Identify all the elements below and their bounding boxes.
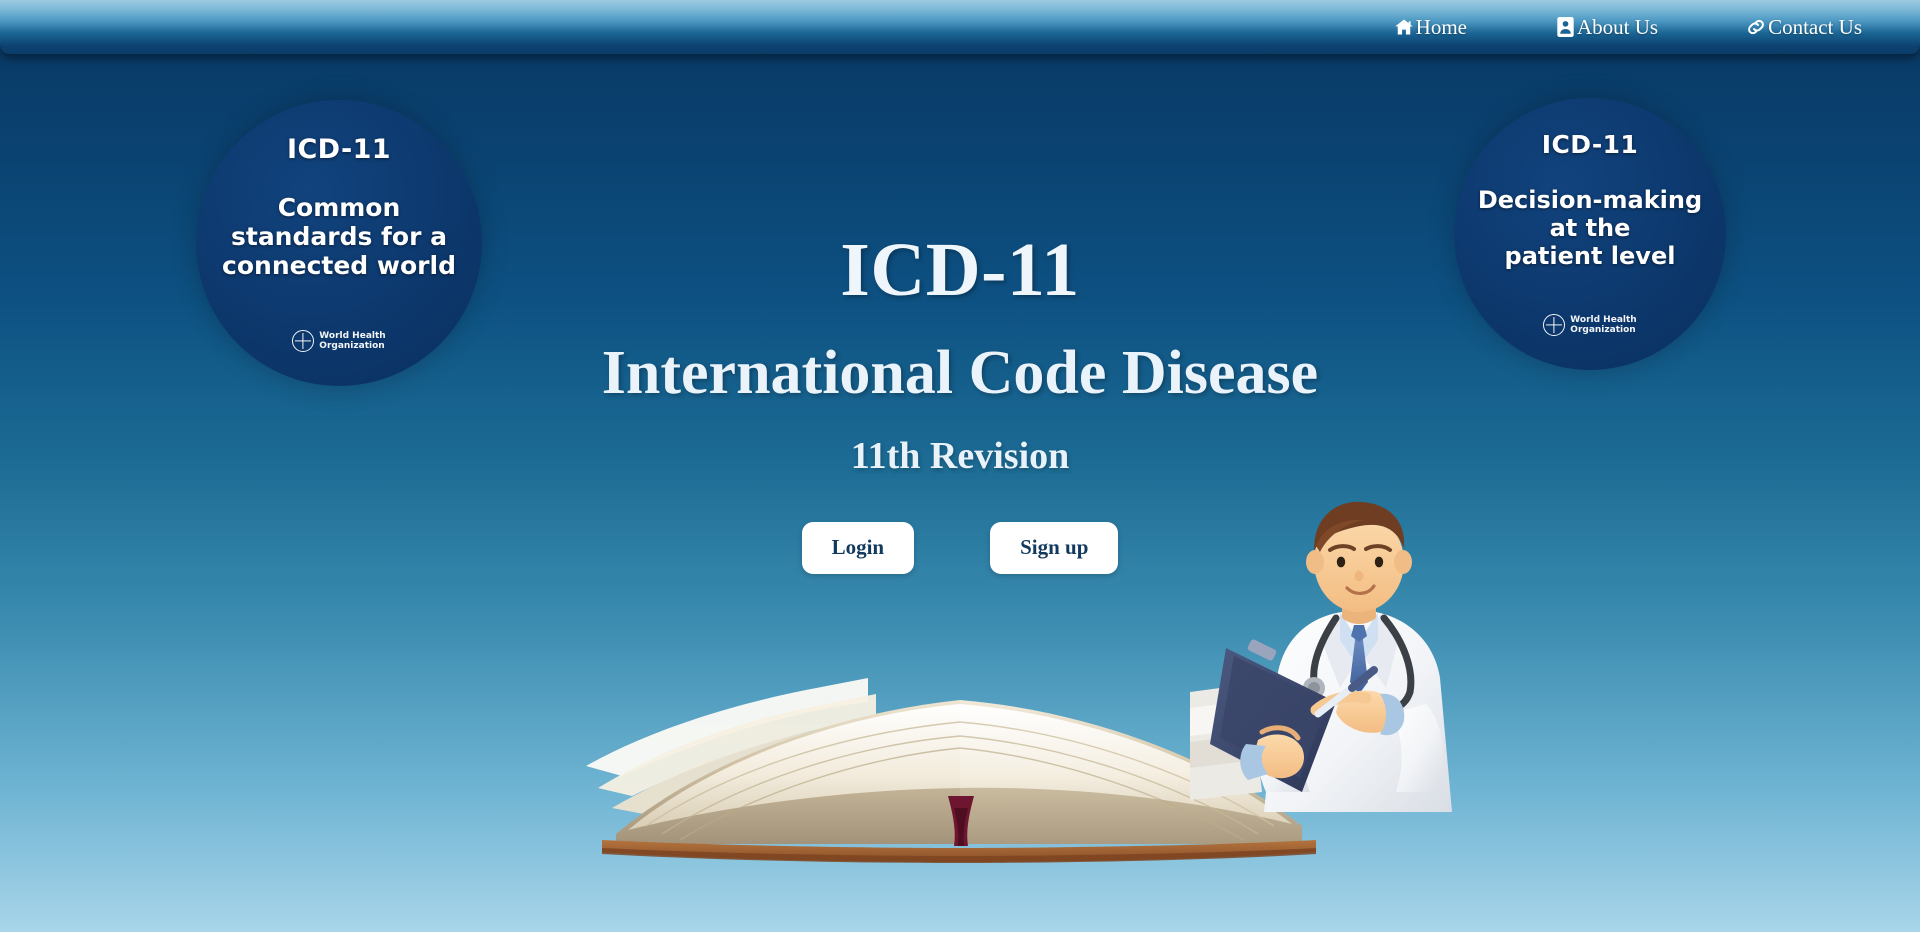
icd-badge-left-code: ICD-11 [287,134,391,165]
nav-item-about-us[interactable]: About Us [1555,17,1658,38]
doctor-with-clipboard-illustration [1190,492,1500,827]
icd-badge-right-tagline: Decision-making at the patient level [1458,187,1722,270]
nav-links-group: Home About Us Contact Us [1394,17,1862,38]
link-icon [1746,17,1766,37]
page-title: ICD-11 [460,232,1460,308]
nav-item-home[interactable]: Home [1394,17,1467,38]
id-card-icon [1555,17,1575,37]
who-logo-left-label: World Health Organization [319,331,385,352]
icd-badge-right-code: ICD-11 [1542,130,1638,159]
who-logo-left: World Health Organization [292,330,385,352]
page-subtitle: International Code Disease [460,342,1460,404]
icd-badge-left-tagline: Common standards for a connected world [202,193,476,280]
icd-badge-right: ICD-11 Decision-making at the patient le… [1454,98,1726,370]
nav-item-about-us-label: About Us [1577,17,1658,38]
signup-button[interactable]: Sign up [990,522,1118,574]
page-revision-label: 11th Revision [460,437,1460,475]
who-logo-right: World Health Organization [1543,314,1636,336]
who-logo-right-label: World Health Organization [1570,315,1636,336]
nav-item-contact-us-label: Contact Us [1768,17,1862,38]
login-button[interactable]: Login [802,522,915,574]
hero-stage: ICD-11 Common standards for a connected … [0,0,1920,932]
top-navigation-bar: Home About Us Contact Us [0,0,1920,54]
who-emblem-icon [292,330,314,352]
nav-item-contact-us[interactable]: Contact Us [1746,17,1862,38]
who-emblem-icon [1543,314,1565,336]
home-icon [1394,17,1414,37]
nav-item-home-label: Home [1416,17,1467,38]
icd-badge-left: ICD-11 Common standards for a connected … [196,100,482,386]
